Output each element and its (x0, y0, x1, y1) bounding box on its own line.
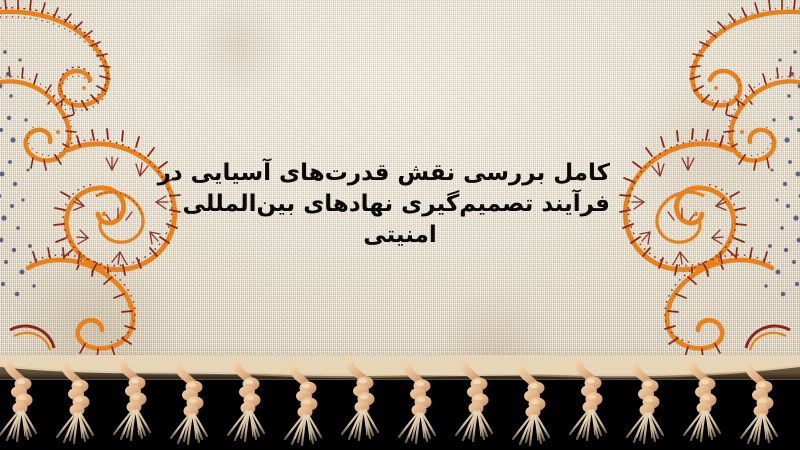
title-line-2: فرآیند تصمیم‌گیری نهادهای بین‌المللی (190, 189, 610, 220)
slide-canvas: کامل بررسی نقش قدرت‌های آسیایی در فرآیند… (0, 0, 800, 450)
title-line-3: امنیتی (190, 220, 610, 251)
tassel-fringe (0, 355, 800, 450)
slide-title: کامل بررسی نقش قدرت‌های آسیایی در فرآیند… (190, 158, 610, 251)
title-line-1: کامل بررسی نقش قدرت‌های آسیایی در (190, 158, 610, 189)
